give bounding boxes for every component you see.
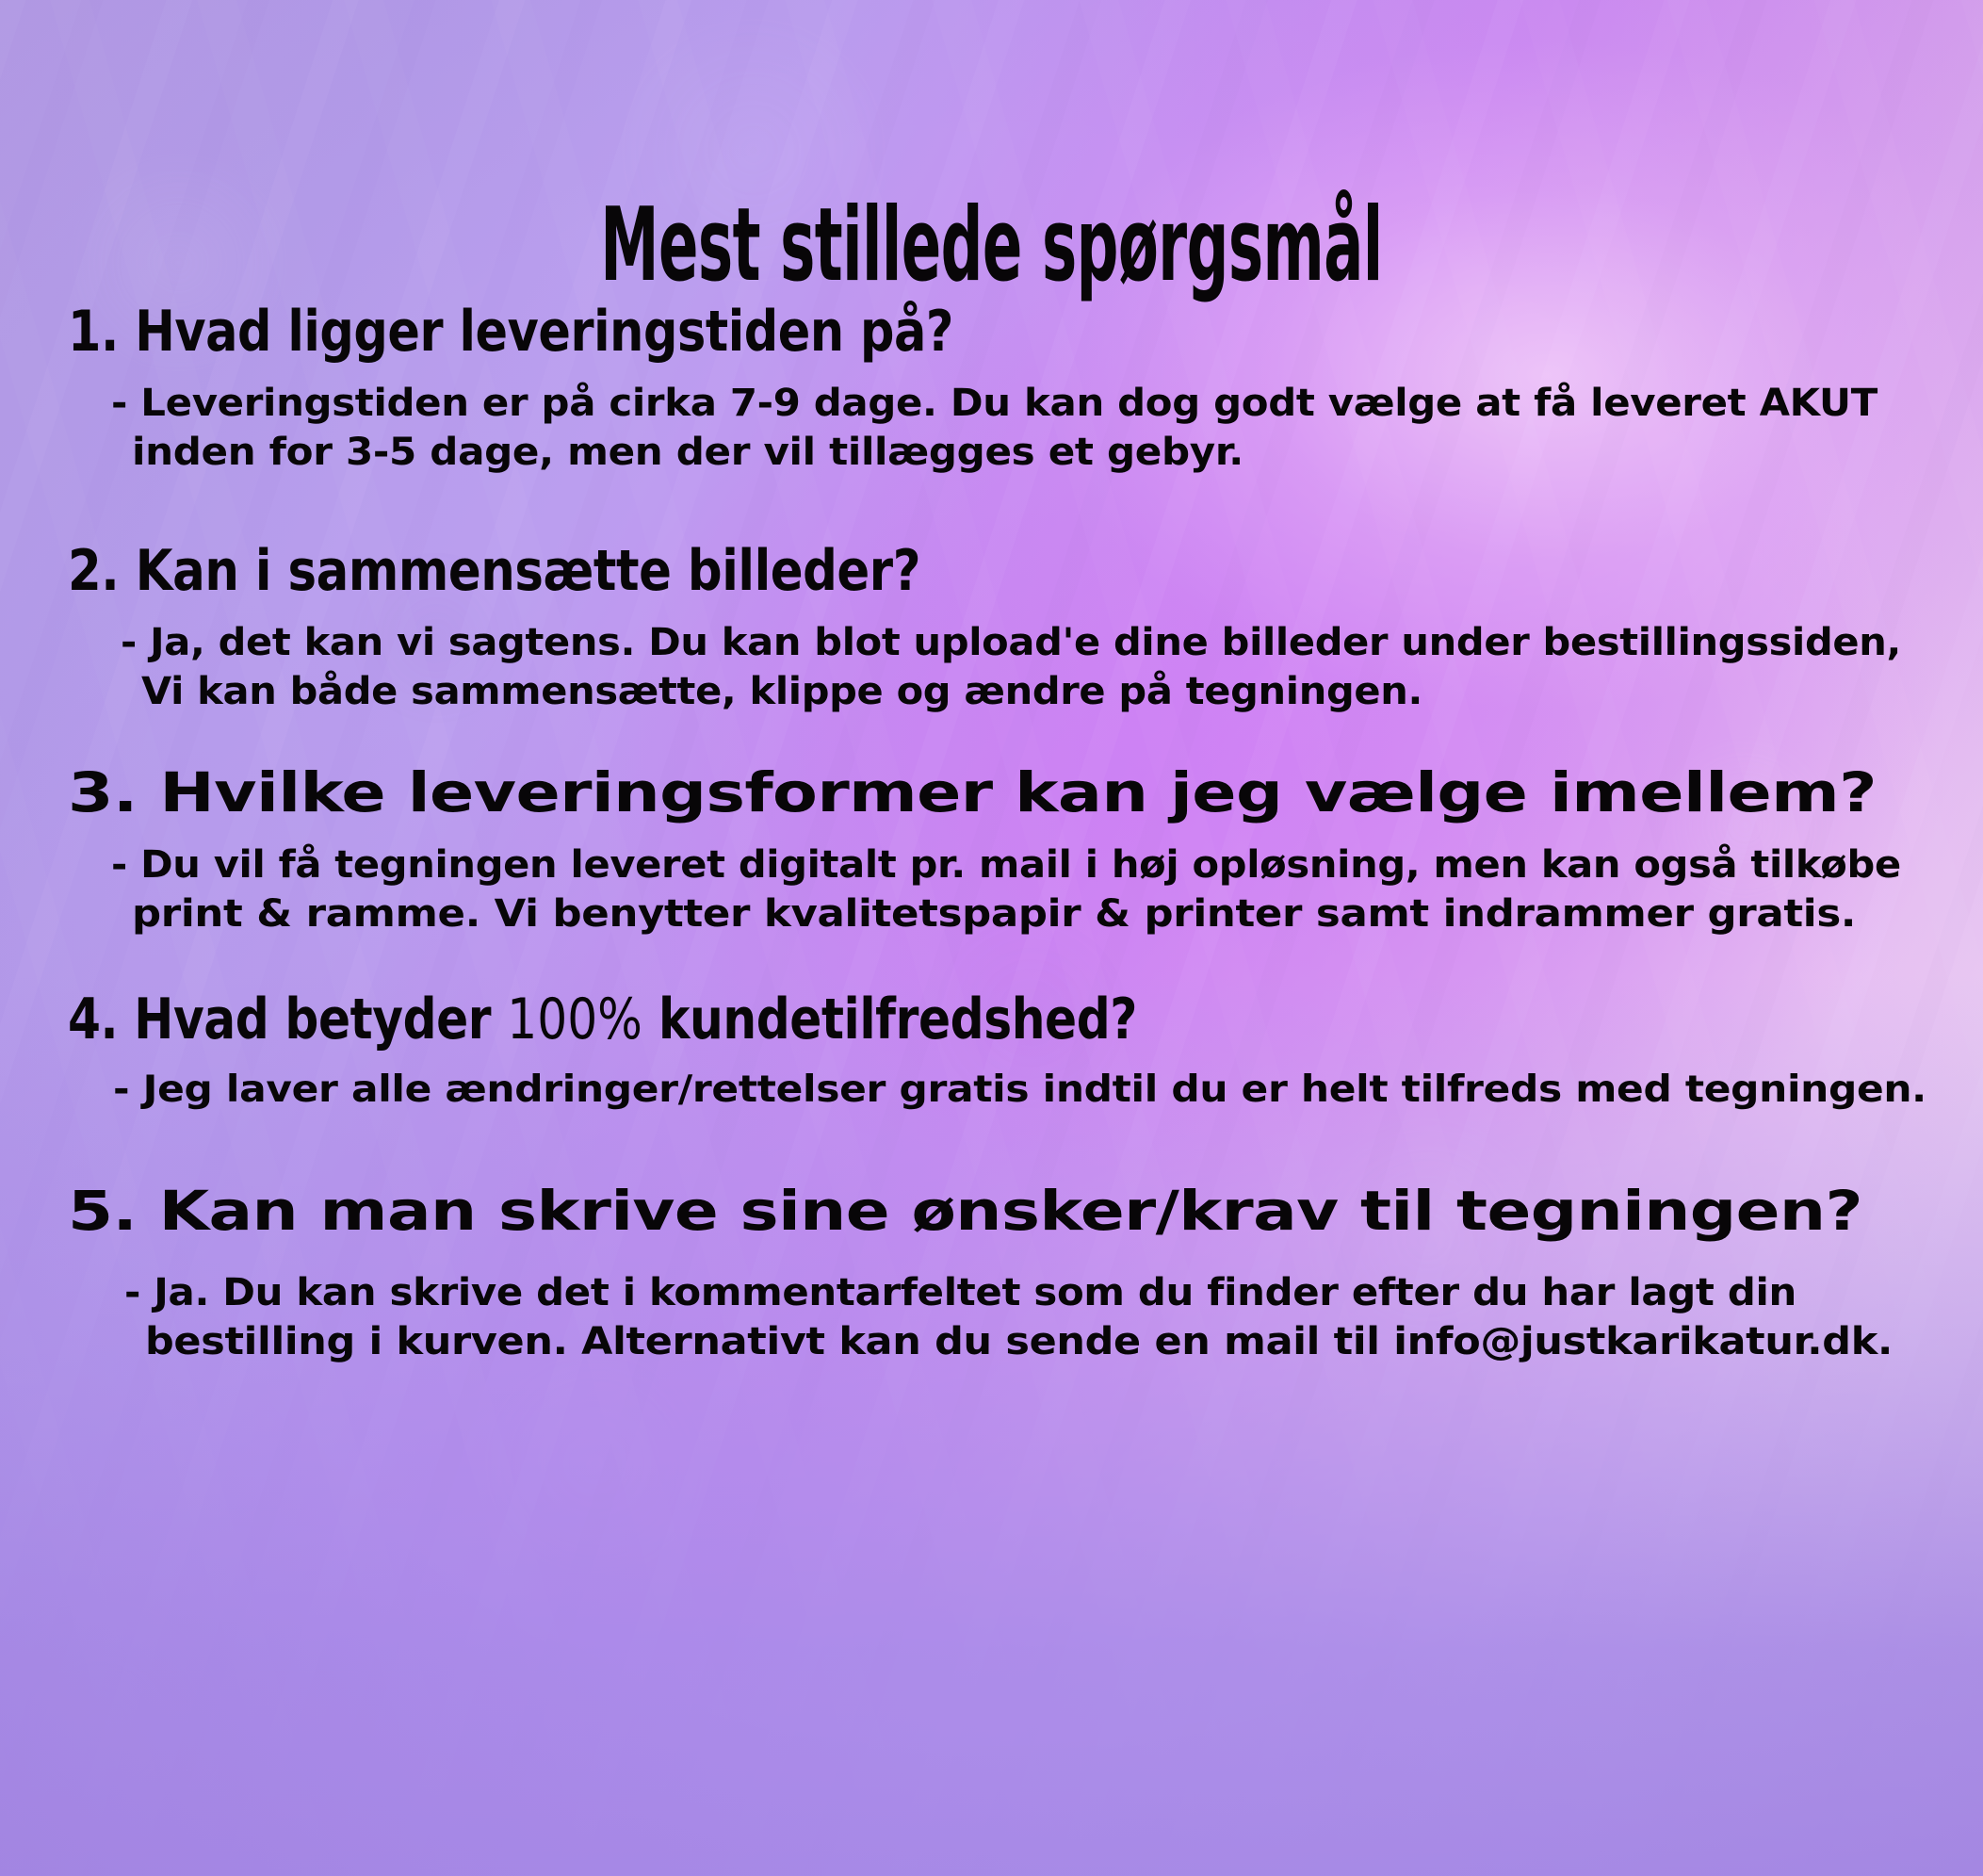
faq-poster: Mest stillede spørgsmål 1. Hvad ligger l… [0, 0, 1983, 1876]
faq-answer-1: - Leveringstiden er på cirka 7-9 dage. D… [111, 379, 1945, 477]
faq-question-4-percent: 100% [507, 987, 642, 1052]
page-title: Mest stillede spørgsmål [416, 192, 1566, 299]
faq-answer-4-line-1: - Jeg laver alle ændringer/rettelser gra… [113, 1067, 1926, 1115]
faq-answer-5-line-1: - Ja. Du kan skrive det i kommentarfelte… [124, 1268, 1796, 1317]
faq-answer-3-line-1: - Du vil få tegningen leveret digitalt p… [111, 840, 1901, 889]
faq-question-1: 1. Hvad ligger leveringstiden på? [68, 303, 953, 360]
faq-answer-1-line-2: inden for 3-5 dage, men der vil tillægge… [132, 428, 1243, 477]
faq-answer-2: - Ja, det kan vi sagtens. Du kan blot up… [121, 618, 1945, 716]
faq-question-2: 2. Kan i sammensætte billeder? [68, 543, 920, 599]
faq-answer-5-line-2: bestilling i kurven. Alternativt kan du … [145, 1317, 1893, 1366]
faq-answer-2-line-2: Vi kan både sammensætte, klippe og ændre… [141, 667, 1422, 716]
faq-answer-4: - Jeg laver alle ændringer/rettelser gra… [113, 1067, 1945, 1115]
poster-content: Mest stillede spørgsmål 1. Hvad ligger l… [0, 0, 1983, 1876]
faq-answer-5: - Ja. Du kan skrive det i kommentarfelte… [124, 1268, 1945, 1366]
faq-answer-3: - Du vil få tegningen leveret digitalt p… [111, 840, 1945, 938]
faq-question-5: 5. Kan man skrive sine ønsker/krav til t… [68, 1183, 1862, 1238]
faq-answer-2-line-1: - Ja, det kan vi sagtens. Du kan blot up… [121, 618, 1901, 667]
faq-question-4-suffix: kundetilfredshed? [642, 987, 1137, 1052]
faq-question-4-prefix: 4. Hvad betyder [68, 987, 507, 1052]
faq-answer-3-line-2: print & ramme. Vi benytter kvalitetspapi… [132, 889, 1856, 938]
faq-answer-1-line-1: - Leveringstiden er på cirka 7-9 dage. D… [111, 379, 1877, 428]
faq-question-4: 4. Hvad betyder 100% kundetilfredshed? [68, 991, 1137, 1048]
faq-question-3: 3. Hvilke leveringsformer kan jeg vælge … [68, 765, 1877, 820]
